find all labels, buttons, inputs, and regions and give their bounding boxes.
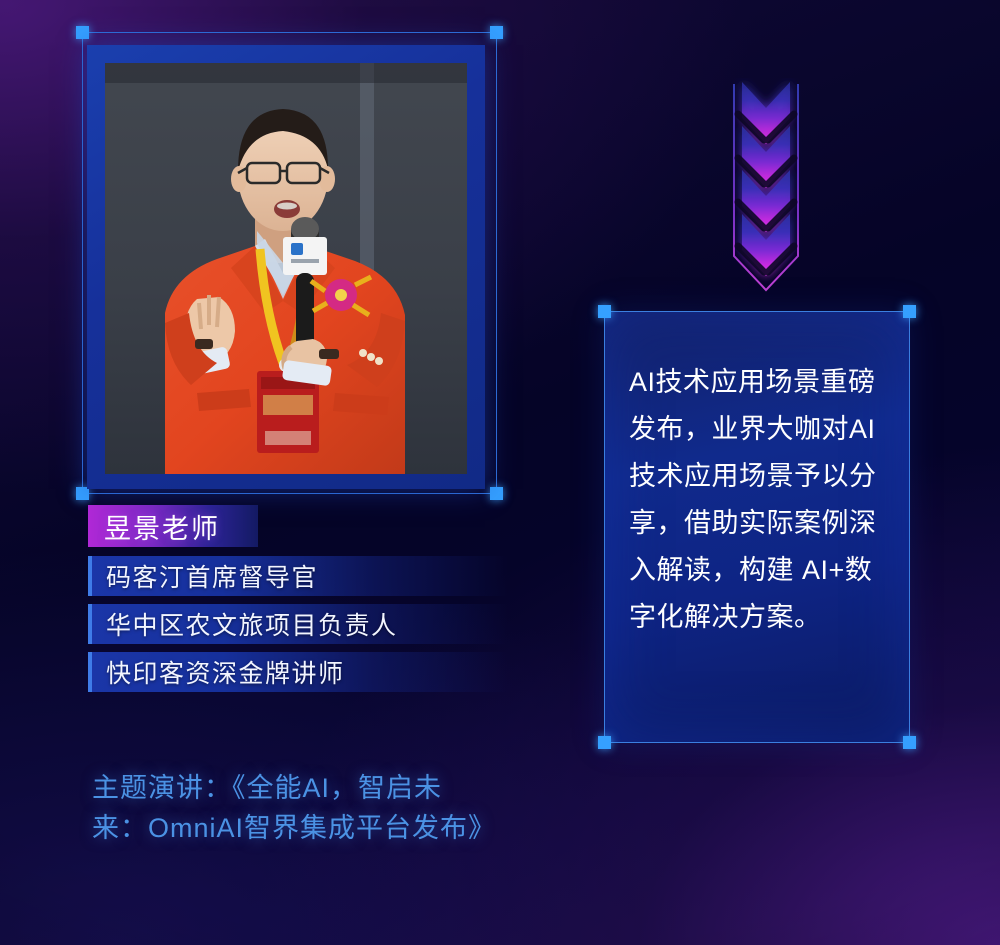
credential-accent-edge xyxy=(88,604,92,644)
photo-inner-frame xyxy=(87,45,485,489)
credential-accent-edge xyxy=(88,556,92,596)
talk-title: 主题演讲：《全能AI，智启未来：OmniAI智界集成平台发布》 xyxy=(92,768,492,848)
speaker-portrait xyxy=(105,63,467,474)
corner-square-marker-icon xyxy=(76,26,89,39)
speaker-photo-frame xyxy=(82,32,497,494)
corner-square-marker-icon xyxy=(903,305,916,318)
credential-text: 快印客资深金牌讲师 xyxy=(106,654,345,690)
corner-square-marker-icon xyxy=(490,487,503,500)
corner-square-marker-icon xyxy=(903,736,916,749)
credential-text: 华中区农文旅项目负责人 xyxy=(106,606,398,642)
chevron-down-stack-icon xyxy=(718,78,814,300)
speaker-name: 昱景老师 xyxy=(104,507,220,546)
credential-row: 华中区农文旅项目负责人 xyxy=(88,604,508,644)
speaker-name-bar: 昱景老师 xyxy=(88,505,258,547)
poster-canvas: 昱景老师 码客汀首席督导官 华中区农文旅项目负责人 快印客资深金牌讲师 主题演讲… xyxy=(0,0,1000,945)
credential-accent-edge xyxy=(88,652,92,692)
panel-description-text: AI技术应用场景重磅发布，业界大咖对AI技术应用场景予以分享，借助实际案例深入解… xyxy=(629,359,890,641)
description-panel: AI技术应用场景重磅发布，业界大咖对AI技术应用场景予以分享，借助实际案例深入解… xyxy=(604,311,910,743)
corner-square-marker-icon xyxy=(490,26,503,39)
credential-text: 码客汀首席督导官 xyxy=(106,558,318,594)
corner-square-marker-icon xyxy=(598,305,611,318)
credential-row: 快印客资深金牌讲师 xyxy=(88,652,508,692)
credential-row: 码客汀首席督导官 xyxy=(88,556,508,596)
corner-square-marker-icon xyxy=(598,736,611,749)
